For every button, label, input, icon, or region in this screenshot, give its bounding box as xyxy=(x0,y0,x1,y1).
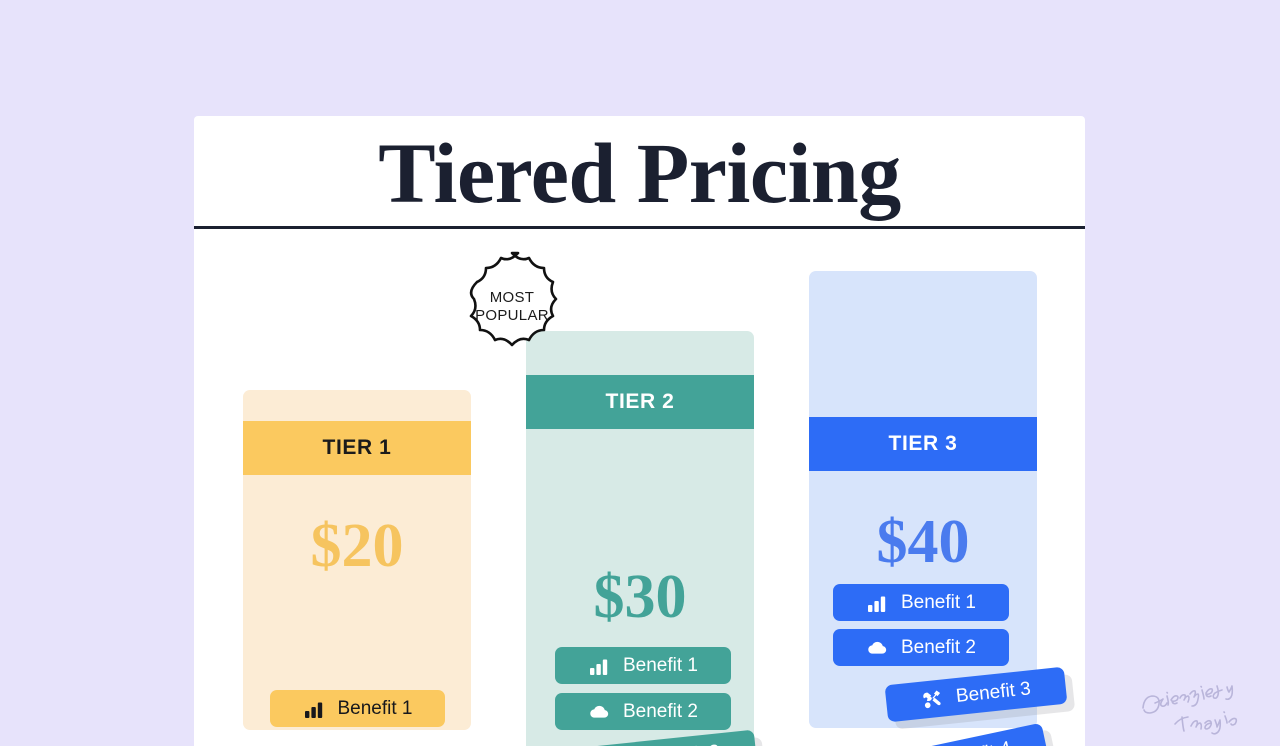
cloud-icon xyxy=(588,701,610,723)
benefit-pill-tier-2-benefit-2[interactable]: Benefit 2 xyxy=(555,693,731,730)
benefit-label: Benefit 4 xyxy=(935,737,1013,746)
benefit-label: Benefit 1 xyxy=(623,655,698,677)
designer-signature xyxy=(1139,684,1259,738)
benefit-label: Benefit 1 xyxy=(338,698,413,720)
badge-line-2: POPULAR xyxy=(475,307,549,325)
benefit-label: Benefit 1 xyxy=(901,592,976,614)
bar-chart-icon xyxy=(303,698,325,720)
most-popular-badge: MOST POPULAR xyxy=(451,250,573,364)
infographic-canvas: Tiered Pricing TIER 1 $20 Benefit 1 TIER… xyxy=(194,116,1085,746)
bar-chart-icon xyxy=(588,655,610,677)
tier-name-tier-1: TIER 1 xyxy=(243,421,471,475)
benefit-label: Benefit 2 xyxy=(901,637,976,659)
benefit-label: Benefit 3 xyxy=(955,678,1032,708)
tier-name-tier-3: TIER 3 xyxy=(809,417,1037,471)
pricing-card-tier-1[interactable]: TIER 1 $20 Benefit 1 xyxy=(243,390,471,730)
benefit-pill-tier-1-benefit-1[interactable]: Benefit 1 xyxy=(270,690,445,727)
benefit-label: Benefit 3 xyxy=(644,741,721,746)
title-divider xyxy=(194,226,1085,229)
benefit-label: Benefit 2 xyxy=(623,701,698,723)
badge-line-1: MOST xyxy=(490,289,535,307)
tier-name-tier-2: TIER 2 xyxy=(526,375,754,429)
benefit-pill-tier-2-benefit-1[interactable]: Benefit 1 xyxy=(555,647,731,684)
pricing-card-tier-2[interactable]: TIER 2 $30 Benefit 1 Benefit 2 xyxy=(526,331,754,746)
tools-icon xyxy=(920,687,944,711)
price-tier-1: $20 xyxy=(243,515,471,577)
price-tier-3: $40 xyxy=(809,511,1037,573)
benefit-pill-tier-3-benefit-2[interactable]: Benefit 2 xyxy=(833,629,1009,666)
pricing-card-tier-3[interactable]: TIER 3 $40 Benefit 1 Benefit 2 xyxy=(809,271,1037,728)
benefit-pill-tier-3-benefit-1[interactable]: Benefit 1 xyxy=(833,584,1009,621)
handwritten-signature-icon xyxy=(1139,684,1259,738)
badge-text-wrapper: MOST POPULAR xyxy=(451,250,573,364)
page-title: Tiered Pricing xyxy=(194,130,1085,216)
bar-chart-icon xyxy=(866,592,888,614)
cloud-icon xyxy=(866,637,888,659)
price-tier-2: $30 xyxy=(526,566,754,628)
